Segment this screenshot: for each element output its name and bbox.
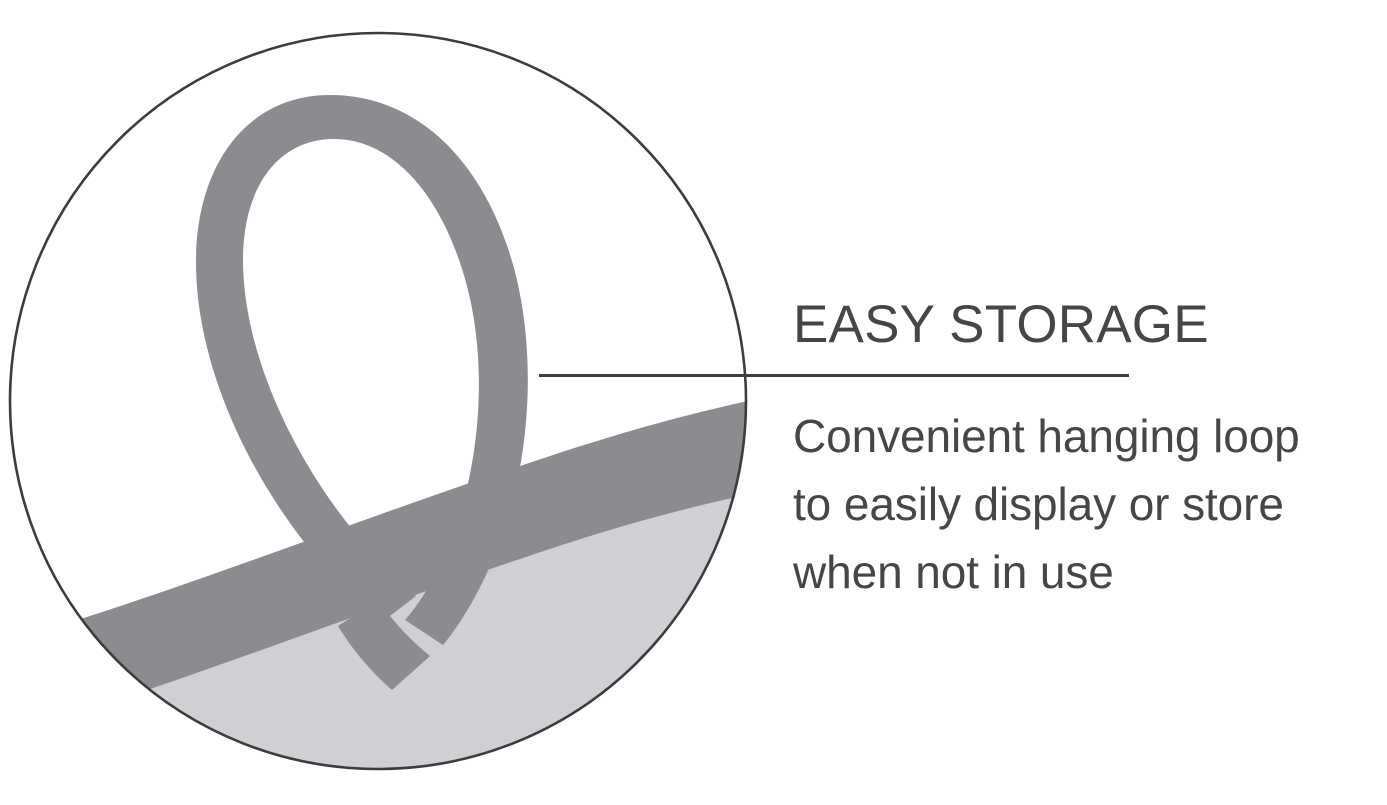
- feature-description: Convenient hanging loop to easily displa…: [793, 402, 1373, 606]
- description-line-3: when not in use: [793, 538, 1373, 606]
- description-line-1: Convenient hanging loop: [793, 402, 1373, 470]
- hanging-loop-illustration: [0, 0, 780, 805]
- feature-text-block: EASY STORAGE Convenient hanging loop to …: [793, 0, 1387, 805]
- leader-rule: [539, 374, 1129, 377]
- feature-callout: EASY STORAGE Convenient hanging loop to …: [0, 0, 1387, 805]
- page-title: EASY STORAGE: [793, 296, 1209, 354]
- description-line-2: to easily display or store: [793, 470, 1373, 538]
